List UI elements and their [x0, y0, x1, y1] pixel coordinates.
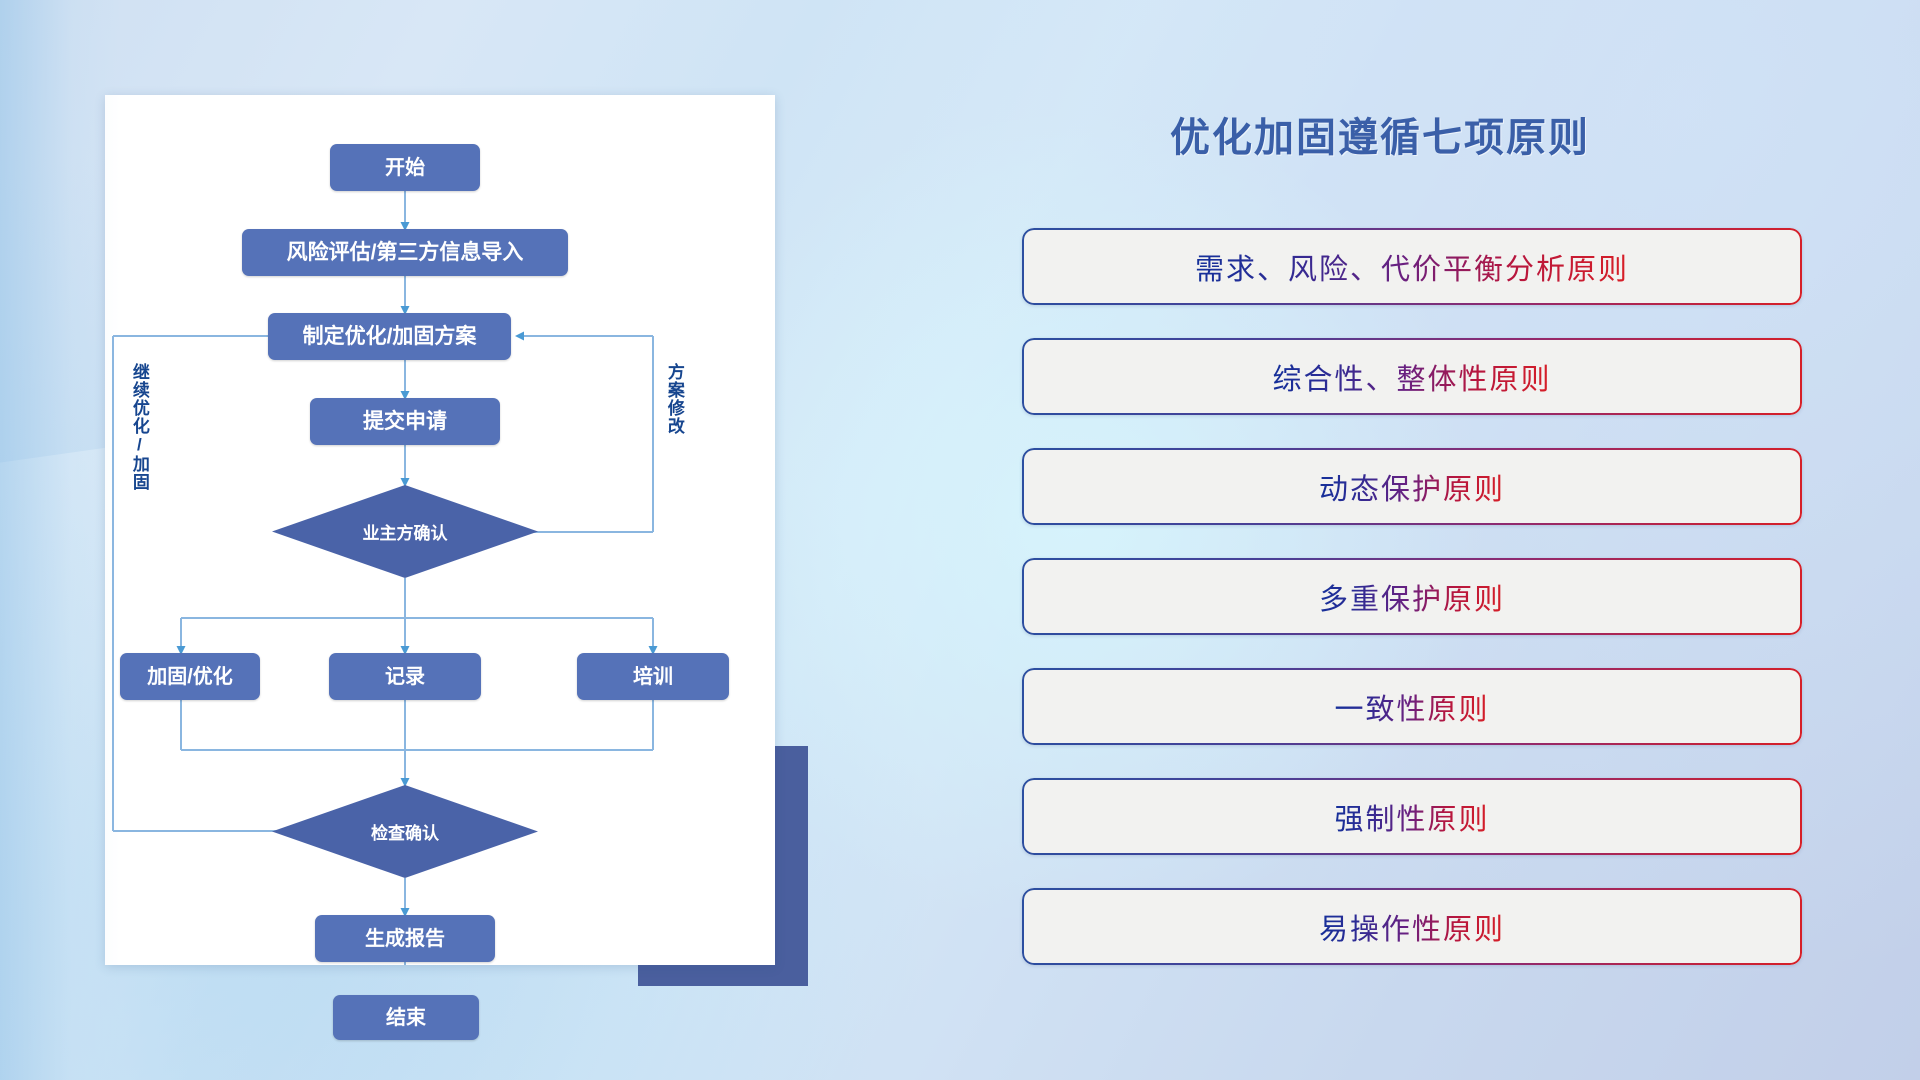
- flow-node-training[interactable]: 培训: [577, 653, 729, 700]
- principle-label: 综合性、整体性原则: [1272, 356, 1551, 398]
- flow-node-label: 制定优化/加固方案: [303, 325, 477, 348]
- principle-item[interactable]: 综合性、整体性原则: [1022, 338, 1802, 415]
- principle-label: 易操作性原则: [1319, 906, 1505, 948]
- principle-label: 强制性原则: [1334, 796, 1489, 838]
- principle-item[interactable]: 动态保护原则: [1022, 448, 1802, 525]
- flow-node-label: 加固/优化: [147, 666, 233, 688]
- flow-node-plan[interactable]: 制定优化/加固方案: [268, 313, 511, 360]
- principle-item[interactable]: 一致性原则: [1022, 668, 1802, 745]
- principle-item[interactable]: 易操作性原则: [1022, 888, 1802, 965]
- flow-node-label: 提交申请: [363, 410, 447, 433]
- flow-node-label: 生成报告: [365, 928, 445, 950]
- flow-node-label: 结束: [386, 1007, 426, 1029]
- flow-edge-label-continue-optimize: 继续优化/加固: [130, 363, 148, 491]
- flow-node-label: 风险评估/第三方信息导入: [287, 241, 524, 264]
- flowchart-card: 开始 风险评估/第三方信息导入 制定优化/加固方案 提交申请 业主方确认 加固/…: [105, 95, 775, 965]
- flow-node-label: 业主方确认: [363, 519, 448, 544]
- flow-node-label: 培训: [633, 666, 673, 688]
- flow-node-label: 记录: [385, 666, 425, 688]
- principle-label: 多重保护原则: [1319, 576, 1505, 618]
- flow-node-label: 检查确认: [371, 819, 439, 844]
- flow-node-label: 开始: [385, 157, 425, 179]
- principle-item[interactable]: 强制性原则: [1022, 778, 1802, 855]
- flow-node-submit-application[interactable]: 提交申请: [310, 398, 500, 445]
- flow-node-reinforce[interactable]: 加固/优化: [120, 653, 260, 700]
- flow-node-generate-report[interactable]: 生成报告: [315, 915, 495, 962]
- flow-node-record[interactable]: 记录: [329, 653, 481, 700]
- flow-node-end[interactable]: 结束: [333, 995, 479, 1040]
- principles-title: 优化加固遵循七项原则: [1020, 105, 1740, 163]
- principle-label: 一致性原则: [1334, 686, 1489, 728]
- flow-node-start[interactable]: 开始: [330, 144, 480, 191]
- principle-label: 动态保护原则: [1319, 466, 1505, 508]
- slide-canvas: 开始 风险评估/第三方信息导入 制定优化/加固方案 提交申请 业主方确认 加固/…: [0, 0, 1920, 1080]
- principle-label: 需求、风险、代价平衡分析原则: [1195, 246, 1629, 288]
- principle-item[interactable]: 需求、风险、代价平衡分析原则: [1022, 228, 1802, 305]
- flow-node-risk-assessment[interactable]: 风险评估/第三方信息导入: [242, 229, 568, 276]
- principles-list: 需求、风险、代价平衡分析原则 综合性、整体性原则 动态保护原则 多重保护原则 一…: [1022, 228, 1802, 998]
- principle-item[interactable]: 多重保护原则: [1022, 558, 1802, 635]
- flow-edge-label-plan-revision: 方案修改: [665, 363, 683, 435]
